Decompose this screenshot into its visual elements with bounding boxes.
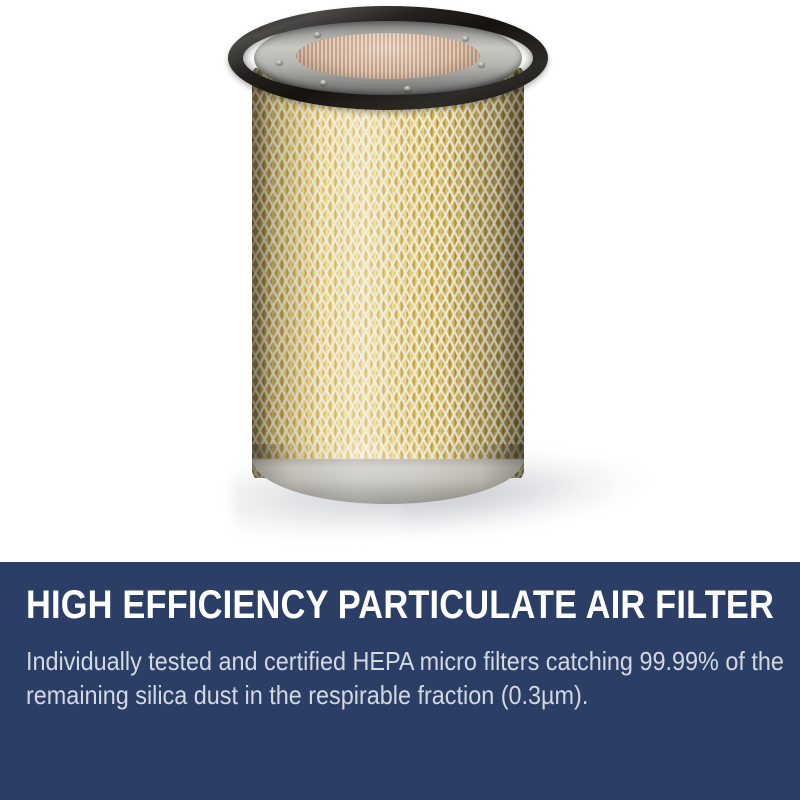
info-banner: HIGH EFFICIENCY PARTICULATE AIR FILTER I… bbox=[0, 562, 800, 800]
filter-cylinder-body bbox=[252, 68, 524, 478]
bottom-band-shading bbox=[252, 444, 524, 504]
info-banner-content: HIGH EFFICIENCY PARTICULATE AIR FILTER I… bbox=[0, 562, 800, 712]
product-photo bbox=[0, 0, 800, 562]
cylinder-specular-highlight bbox=[339, 68, 393, 478]
product-feature-card: HIGH EFFICIENCY PARTICULATE AIR FILTER I… bbox=[0, 0, 800, 800]
banner-headline: HIGH EFFICIENCY PARTICULATE AIR FILTER bbox=[26, 584, 669, 626]
bottom-end-cap bbox=[252, 444, 524, 508]
air-filter-cartridge bbox=[224, 6, 552, 516]
top-rubber-gasket-ring bbox=[228, 6, 548, 110]
banner-description: Individually tested and certified HEPA m… bbox=[26, 644, 793, 712]
